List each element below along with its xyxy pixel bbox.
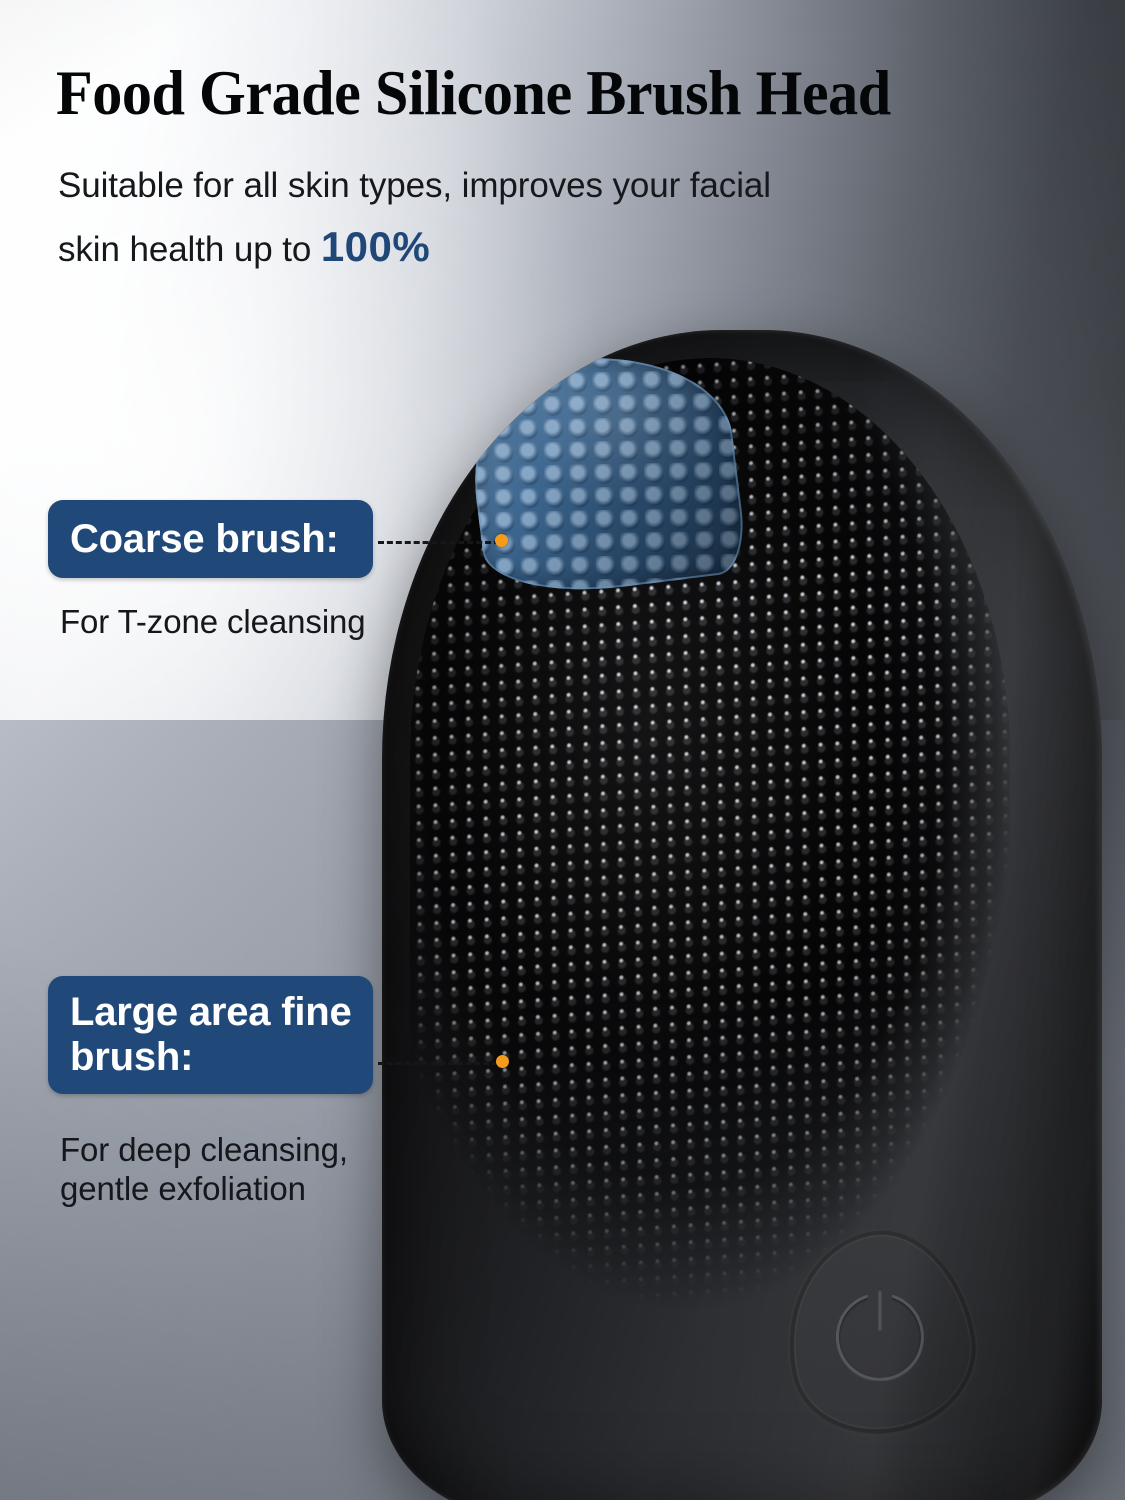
callout-badge-fine-brush-label: Large area fine brush: <box>70 990 373 1080</box>
callout-badge-fine-brush: Large area fine brush: <box>48 976 373 1094</box>
product-infographic: Food Grade Silicone Brush Head Suitable … <box>0 0 1125 1500</box>
page-title: Food Grade Silicone Brush Head <box>56 60 1001 126</box>
marker-dot-fine-brush <box>496 1055 509 1068</box>
callout-caption-coarse-brush: For T-zone cleansing <box>60 603 480 642</box>
leader-line-coarse-brush <box>378 541 500 544</box>
callout-caption-fine-brush: For deep cleansing, gentle exfoliation <box>60 1131 440 1209</box>
device-body <box>382 330 1102 1500</box>
callout-badge-coarse-brush: Coarse brush: <box>48 500 373 578</box>
callout-badge-coarse-brush-label: Coarse brush: <box>70 517 339 562</box>
device-rim-highlight <box>382 330 1102 1500</box>
subtitle-line-2: skin health up to 100% <box>58 226 878 268</box>
subtitle-line-1: Suitable for all skin types, improves yo… <box>58 168 878 203</box>
marker-dot-coarse-brush <box>495 534 508 547</box>
leader-line-fine-brush <box>378 1062 498 1065</box>
subtitle-line-2-prefix: skin health up to <box>58 230 321 269</box>
cleansing-brush-device <box>382 330 1102 1500</box>
subtitle-accent-value: 100% <box>321 223 430 270</box>
